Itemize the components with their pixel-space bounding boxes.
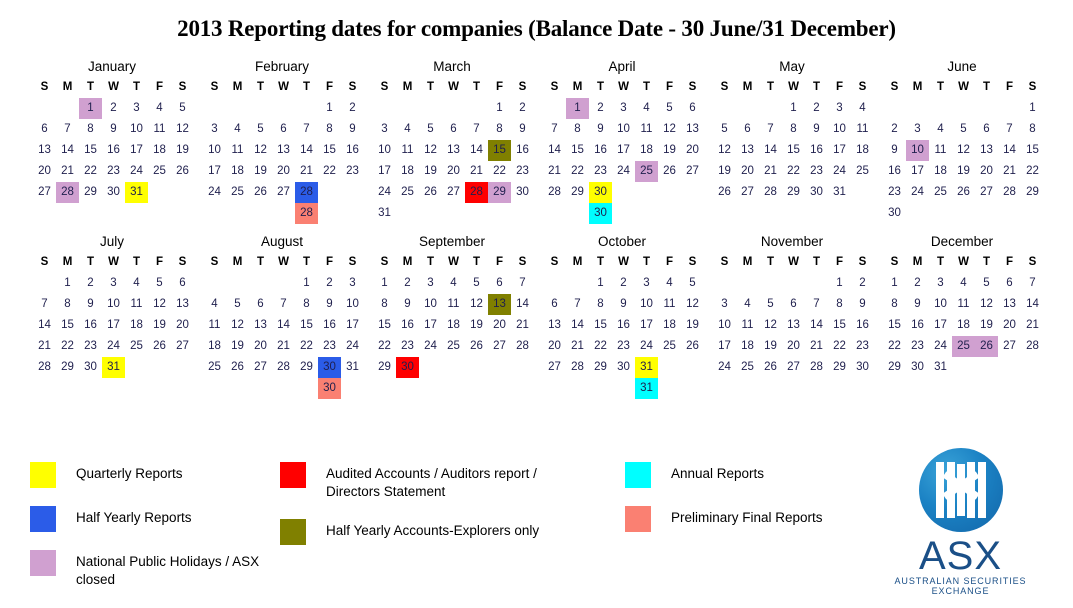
- day-cell: 27: [681, 161, 704, 182]
- weekday-label: S: [1021, 77, 1044, 98]
- day-cell: 4: [952, 273, 975, 294]
- day-cell: 1: [566, 98, 589, 119]
- day-cell: 26: [658, 161, 681, 182]
- week-row: 13141516171819: [25, 140, 195, 161]
- day-cell-empty: [1021, 357, 1044, 378]
- weekday-label: S: [171, 252, 194, 273]
- weekday-label: W: [272, 252, 295, 273]
- legend-label-audited-accounts: Audited Accounts / Auditors report / Dir…: [326, 462, 537, 501]
- day-cell: 12: [171, 119, 194, 140]
- day-cell-empty: [272, 273, 295, 294]
- day-cell-empty: [341, 203, 364, 224]
- day-cell-empty: [736, 98, 759, 119]
- day-cell: 8: [1021, 119, 1044, 140]
- weekday-label: S: [373, 252, 396, 273]
- legend-item-half-yearly-explorers: Half Yearly Accounts-Explorers only: [280, 519, 625, 545]
- day-cell: 13: [272, 140, 295, 161]
- legend-column-3: Annual ReportsPreliminary Final Reports: [625, 462, 890, 607]
- week-row: 25262728293031: [195, 357, 365, 378]
- weekday-label: F: [828, 252, 851, 273]
- weekday-label: T: [295, 252, 318, 273]
- day-cell: 26: [681, 336, 704, 357]
- day-cell: 20: [543, 336, 566, 357]
- day-cell-empty: [998, 357, 1021, 378]
- day-cell: 11: [851, 119, 874, 140]
- month-title: October: [535, 232, 705, 252]
- weekday-label: T: [805, 252, 828, 273]
- day-cell: 24: [125, 161, 148, 182]
- day-cell: 9: [805, 119, 828, 140]
- day-cell: 25: [442, 336, 465, 357]
- day-cell: 19: [148, 315, 171, 336]
- day-cell-empty: [998, 98, 1021, 119]
- weekday-label: T: [249, 252, 272, 273]
- day-cell-empty: [465, 357, 488, 378]
- day-cell-empty: [442, 98, 465, 119]
- day-cell-empty: [589, 378, 612, 399]
- day-cell: 4: [396, 119, 419, 140]
- day-cell-empty: [203, 378, 226, 399]
- day-cell: 5: [759, 294, 782, 315]
- weekday-label: S: [1021, 252, 1044, 273]
- weekday-label: S: [33, 252, 56, 273]
- weekday-label: S: [681, 77, 704, 98]
- month-title: November: [705, 232, 875, 252]
- day-cell: 17: [203, 161, 226, 182]
- weekday-label: W: [612, 77, 635, 98]
- day-cell: 6: [249, 294, 272, 315]
- day-cell-empty: [635, 203, 658, 224]
- weekday-label: W: [272, 77, 295, 98]
- day-cell: 28: [759, 182, 782, 203]
- day-cell: 3: [828, 98, 851, 119]
- weekday-label: F: [998, 252, 1021, 273]
- week-row: 21222324252627: [25, 336, 195, 357]
- week-row: 3456789: [195, 119, 365, 140]
- day-cell: 9: [79, 294, 102, 315]
- day-cell: 13: [782, 315, 805, 336]
- day-cell-empty: [125, 357, 148, 378]
- day-cell-empty: [543, 273, 566, 294]
- day-cell: 2: [396, 273, 419, 294]
- day-cell: 23: [102, 161, 125, 182]
- day-cell: 20: [681, 140, 704, 161]
- day-cell: 25: [658, 336, 681, 357]
- day-cell: 29: [56, 357, 79, 378]
- day-cell: 6: [442, 119, 465, 140]
- month-september: SeptemberSMTWTFS123456789101112131415161…: [365, 232, 535, 399]
- weekday-label: M: [736, 77, 759, 98]
- month-january: JanuarySMTWTFS12345678910111213141516171…: [25, 57, 195, 224]
- day-cell: 9: [612, 294, 635, 315]
- legend-swatch-audited-accounts: [280, 462, 306, 488]
- day-cell: 11: [226, 140, 249, 161]
- day-cell: 21: [566, 336, 589, 357]
- day-cell: 25: [226, 182, 249, 203]
- day-cell: 9: [511, 119, 534, 140]
- day-cell: 16: [612, 315, 635, 336]
- day-cell-empty: [341, 378, 364, 399]
- day-cell: 2: [805, 98, 828, 119]
- month-title: March: [365, 57, 535, 77]
- weekday-label: W: [782, 252, 805, 273]
- weekday-label: M: [566, 77, 589, 98]
- day-cell: 14: [543, 140, 566, 161]
- month-august: AugustSMTWTFS123456789101112131415161718…: [195, 232, 365, 399]
- day-cell: 1: [883, 273, 906, 294]
- day-cell: 8: [373, 294, 396, 315]
- day-cell: 16: [79, 315, 102, 336]
- day-cell: 20: [171, 315, 194, 336]
- day-cell-empty: [272, 378, 295, 399]
- asx-logo-mark-icon: [919, 448, 1003, 532]
- day-cell: 19: [465, 315, 488, 336]
- weekday-header-row: SMTWTFS: [25, 77, 195, 98]
- day-cell: 5: [681, 273, 704, 294]
- day-cell-empty: [952, 203, 975, 224]
- day-cell: 26: [975, 336, 998, 357]
- day-cell: 2: [883, 119, 906, 140]
- weekday-label: W: [782, 77, 805, 98]
- day-cell: 10: [906, 140, 929, 161]
- day-cell: 24: [929, 336, 952, 357]
- day-cell: 14: [56, 140, 79, 161]
- day-cell: 6: [782, 294, 805, 315]
- day-cell-empty: [419, 98, 442, 119]
- week-row: 45678910: [195, 294, 365, 315]
- day-cell: 12: [465, 294, 488, 315]
- day-cell: 16: [805, 140, 828, 161]
- day-cell: 12: [148, 294, 171, 315]
- day-cell: 25: [396, 182, 419, 203]
- day-cell: 1: [782, 98, 805, 119]
- day-cell: 8: [318, 119, 341, 140]
- month-title: July: [25, 232, 195, 252]
- day-cell: 31: [635, 357, 658, 378]
- day-cell: 22: [566, 161, 589, 182]
- day-cell: 31: [125, 182, 148, 203]
- day-cell-empty: [396, 98, 419, 119]
- legend-label-annual-reports: Annual Reports: [671, 462, 764, 483]
- day-cell-empty: [713, 98, 736, 119]
- day-cell: 10: [203, 140, 226, 161]
- legend-swatch-half-yearly-explorers: [280, 519, 306, 545]
- day-cell: 23: [396, 336, 419, 357]
- day-cell: 25: [125, 336, 148, 357]
- weekday-header-row: SMTWTFS: [705, 252, 875, 273]
- day-cell: 5: [148, 273, 171, 294]
- day-cell-empty: [975, 357, 998, 378]
- day-cell-empty: [488, 357, 511, 378]
- day-cell: 8: [488, 119, 511, 140]
- day-cell: 8: [295, 294, 318, 315]
- week-row: 3456789: [705, 294, 875, 315]
- week-row: 24252627282930: [365, 182, 535, 203]
- day-cell-empty: [1021, 203, 1044, 224]
- day-cell: 31: [828, 182, 851, 203]
- day-cell: 20: [782, 336, 805, 357]
- month-title: February: [195, 57, 365, 77]
- day-cell: 15: [828, 315, 851, 336]
- day-cell: 5: [419, 119, 442, 140]
- weekday-label: W: [952, 77, 975, 98]
- week-row: 14151617181920: [25, 315, 195, 336]
- day-cell: 9: [102, 119, 125, 140]
- month-may: MaySMTWTFS123456789101112131415161718192…: [705, 57, 875, 224]
- week-row: 6789101112: [25, 119, 195, 140]
- day-cell: 6: [681, 98, 704, 119]
- day-cell: 28: [805, 357, 828, 378]
- day-cell: 4: [125, 273, 148, 294]
- weekday-label: S: [341, 77, 364, 98]
- week-row: 9101112131415: [875, 140, 1045, 161]
- week-row: 11121314151617: [195, 315, 365, 336]
- day-cell: 2: [589, 98, 612, 119]
- week-row: 17181920212223: [705, 336, 875, 357]
- day-cell-empty: [566, 378, 589, 399]
- day-cell: 13: [681, 119, 704, 140]
- day-cell: 4: [148, 98, 171, 119]
- day-cell: 14: [566, 315, 589, 336]
- month-february: FebruarySMTWTFS1234567891011121314151617…: [195, 57, 365, 224]
- month-december: DecemberSMTWTFS1234567891011121314151617…: [875, 232, 1045, 399]
- legend-item-preliminary-final-reports: Preliminary Final Reports: [625, 506, 890, 532]
- day-cell: 15: [782, 140, 805, 161]
- week-row: 31: [365, 203, 535, 224]
- day-cell: 6: [543, 294, 566, 315]
- weekday-label: T: [635, 252, 658, 273]
- day-cell: 2: [511, 98, 534, 119]
- day-cell: 3: [373, 119, 396, 140]
- day-cell: 5: [658, 98, 681, 119]
- day-cell: 23: [589, 161, 612, 182]
- day-cell: 2: [851, 273, 874, 294]
- day-cell-empty: [318, 203, 341, 224]
- day-cell-empty: [566, 203, 589, 224]
- day-cell: 1: [295, 273, 318, 294]
- week-row: 2930: [365, 357, 535, 378]
- legend-item-audited-accounts: Audited Accounts / Auditors report / Dir…: [280, 462, 625, 501]
- day-cell: 6: [998, 273, 1021, 294]
- day-cell: 11: [952, 294, 975, 315]
- day-cell-empty: [851, 182, 874, 203]
- day-cell-empty: [713, 273, 736, 294]
- legend-label-half-yearly-explorers: Half Yearly Accounts-Explorers only: [326, 519, 539, 540]
- day-cell: 28: [272, 357, 295, 378]
- day-cell-extra: 30: [589, 203, 612, 224]
- day-cell: 15: [318, 140, 341, 161]
- day-cell: 28: [511, 336, 534, 357]
- day-cell-extra: 31: [635, 378, 658, 399]
- day-cell: 13: [33, 140, 56, 161]
- day-cell: 10: [125, 119, 148, 140]
- day-cell: 1: [828, 273, 851, 294]
- day-cell: 3: [929, 273, 952, 294]
- week-row: 12: [705, 273, 875, 294]
- week-row: 22232425262728: [875, 336, 1045, 357]
- day-cell-empty: [203, 98, 226, 119]
- month-title: April: [535, 57, 705, 77]
- day-cell: 15: [566, 140, 589, 161]
- day-cell-empty: [805, 273, 828, 294]
- day-cell: 9: [396, 294, 419, 315]
- day-cell: 11: [736, 315, 759, 336]
- month-title: December: [875, 232, 1045, 252]
- day-cell-empty: [906, 98, 929, 119]
- day-cell: 11: [203, 315, 226, 336]
- day-cell: 14: [33, 315, 56, 336]
- day-cell: 30: [396, 357, 419, 378]
- day-cell-empty: [612, 203, 635, 224]
- legend-swatch-annual-reports: [625, 462, 651, 488]
- asx-tagline: AUSTRALIAN SECURITIES EXCHANGE: [878, 576, 1043, 596]
- day-cell: 30: [805, 182, 828, 203]
- day-cell: 26: [249, 182, 272, 203]
- weekday-label: T: [975, 77, 998, 98]
- day-cell: 4: [851, 98, 874, 119]
- day-cell: 2: [79, 273, 102, 294]
- weekday-label: M: [906, 252, 929, 273]
- day-cell: 21: [998, 161, 1021, 182]
- day-cell: 9: [589, 119, 612, 140]
- month-july: JulySMTWTFS12345678910111213141516171819…: [25, 232, 195, 399]
- day-cell: 10: [102, 294, 125, 315]
- day-cell: 24: [341, 336, 364, 357]
- day-cell-empty: [612, 378, 635, 399]
- day-cell: 1: [318, 98, 341, 119]
- month-title: September: [365, 232, 535, 252]
- legend-column-2: Audited Accounts / Auditors report / Dir…: [280, 462, 625, 607]
- day-cell: 11: [442, 294, 465, 315]
- day-cell: 27: [782, 357, 805, 378]
- day-cell: 18: [635, 140, 658, 161]
- weekday-header-row: SMTWTFS: [195, 252, 365, 273]
- day-cell: 9: [318, 294, 341, 315]
- weekday-label: S: [543, 252, 566, 273]
- day-cell: 7: [759, 119, 782, 140]
- day-cell: 27: [975, 182, 998, 203]
- day-cell: 31: [373, 203, 396, 224]
- day-cell-empty: [171, 357, 194, 378]
- day-cell: 10: [341, 294, 364, 315]
- day-cell-empty: [295, 378, 318, 399]
- day-cell: 18: [203, 336, 226, 357]
- day-cell: 19: [975, 315, 998, 336]
- day-cell: 21: [1021, 315, 1044, 336]
- day-cell: 7: [33, 294, 56, 315]
- week-row: 13141516171819: [535, 315, 705, 336]
- day-cell: 4: [929, 119, 952, 140]
- day-cell: 23: [805, 161, 828, 182]
- week-row: 21222324252627: [535, 161, 705, 182]
- day-cell-empty: [543, 98, 566, 119]
- week-row: 19202122232425: [705, 161, 875, 182]
- asx-wordmark: ASX: [878, 534, 1043, 578]
- day-cell: 14: [295, 140, 318, 161]
- day-cell: 18: [442, 315, 465, 336]
- day-cell: 5: [465, 273, 488, 294]
- day-cell: 7: [56, 119, 79, 140]
- week-row: 262728293031: [705, 182, 875, 203]
- day-cell: 17: [828, 140, 851, 161]
- day-cell: 22: [295, 336, 318, 357]
- day-cell: 18: [851, 140, 874, 161]
- day-cell: 16: [589, 140, 612, 161]
- day-cell-empty: [681, 182, 704, 203]
- week-row: 20212223242526: [535, 336, 705, 357]
- day-cell: 10: [635, 294, 658, 315]
- day-cell: 17: [612, 140, 635, 161]
- day-cell-empty: [226, 273, 249, 294]
- week-row: 1234567: [365, 273, 535, 294]
- day-cell: 23: [341, 161, 364, 182]
- day-cell: 23: [318, 336, 341, 357]
- week-row: 10111213141516: [365, 140, 535, 161]
- day-cell: 12: [226, 315, 249, 336]
- day-cell: 8: [589, 294, 612, 315]
- day-cell-empty: [396, 203, 419, 224]
- day-cell: 24: [203, 182, 226, 203]
- day-cell: 10: [929, 294, 952, 315]
- weekday-label: F: [658, 252, 681, 273]
- weekday-label: S: [203, 252, 226, 273]
- day-cell: 3: [713, 294, 736, 315]
- day-cell: 9: [883, 140, 906, 161]
- day-cell: 2: [318, 273, 341, 294]
- month-june: JuneSMTWTFS12345678910111213141516171819…: [875, 57, 1045, 224]
- day-cell: 10: [373, 140, 396, 161]
- weekday-header-row: SMTWTFS: [365, 77, 535, 98]
- legend-label-half-yearly-reports: Half Yearly Reports: [76, 506, 192, 527]
- day-cell: 27: [998, 336, 1021, 357]
- day-cell: 12: [713, 140, 736, 161]
- day-cell: 10: [419, 294, 442, 315]
- week-row: 2345678: [875, 119, 1045, 140]
- day-cell: 14: [1021, 294, 1044, 315]
- day-cell: 1: [79, 98, 102, 119]
- day-cell: 22: [488, 161, 511, 182]
- legend: Quarterly ReportsHalf Yearly ReportsNati…: [30, 462, 890, 607]
- day-cell: 26: [148, 336, 171, 357]
- weekday-label: W: [612, 252, 635, 273]
- legend-swatch-quarterly-reports: [30, 462, 56, 488]
- day-cell: 6: [171, 273, 194, 294]
- weekday-label: T: [125, 77, 148, 98]
- week-row: 22232425262728: [365, 336, 535, 357]
- day-cell-extra: 30: [318, 378, 341, 399]
- day-cell: 6: [975, 119, 998, 140]
- day-cell: 30: [511, 182, 534, 203]
- weekday-label: S: [511, 252, 534, 273]
- day-cell: 18: [929, 161, 952, 182]
- day-cell: 22: [1021, 161, 1044, 182]
- day-cell: 7: [566, 294, 589, 315]
- day-cell-empty: [929, 98, 952, 119]
- day-cell-empty: [759, 98, 782, 119]
- calendar-grid: JanuarySMTWTFS12345678910111213141516171…: [25, 57, 1073, 399]
- extra-marker-row: 30: [195, 378, 365, 399]
- week-row: 1234567: [875, 273, 1045, 294]
- day-cell: 20: [488, 315, 511, 336]
- day-cell: 11: [929, 140, 952, 161]
- day-cell: 5: [713, 119, 736, 140]
- day-cell: 31: [102, 357, 125, 378]
- weekday-header-row: SMTWTFS: [535, 77, 705, 98]
- day-cell: 29: [488, 182, 511, 203]
- day-cell-empty: [171, 182, 194, 203]
- day-cell: 29: [883, 357, 906, 378]
- day-cell: 14: [998, 140, 1021, 161]
